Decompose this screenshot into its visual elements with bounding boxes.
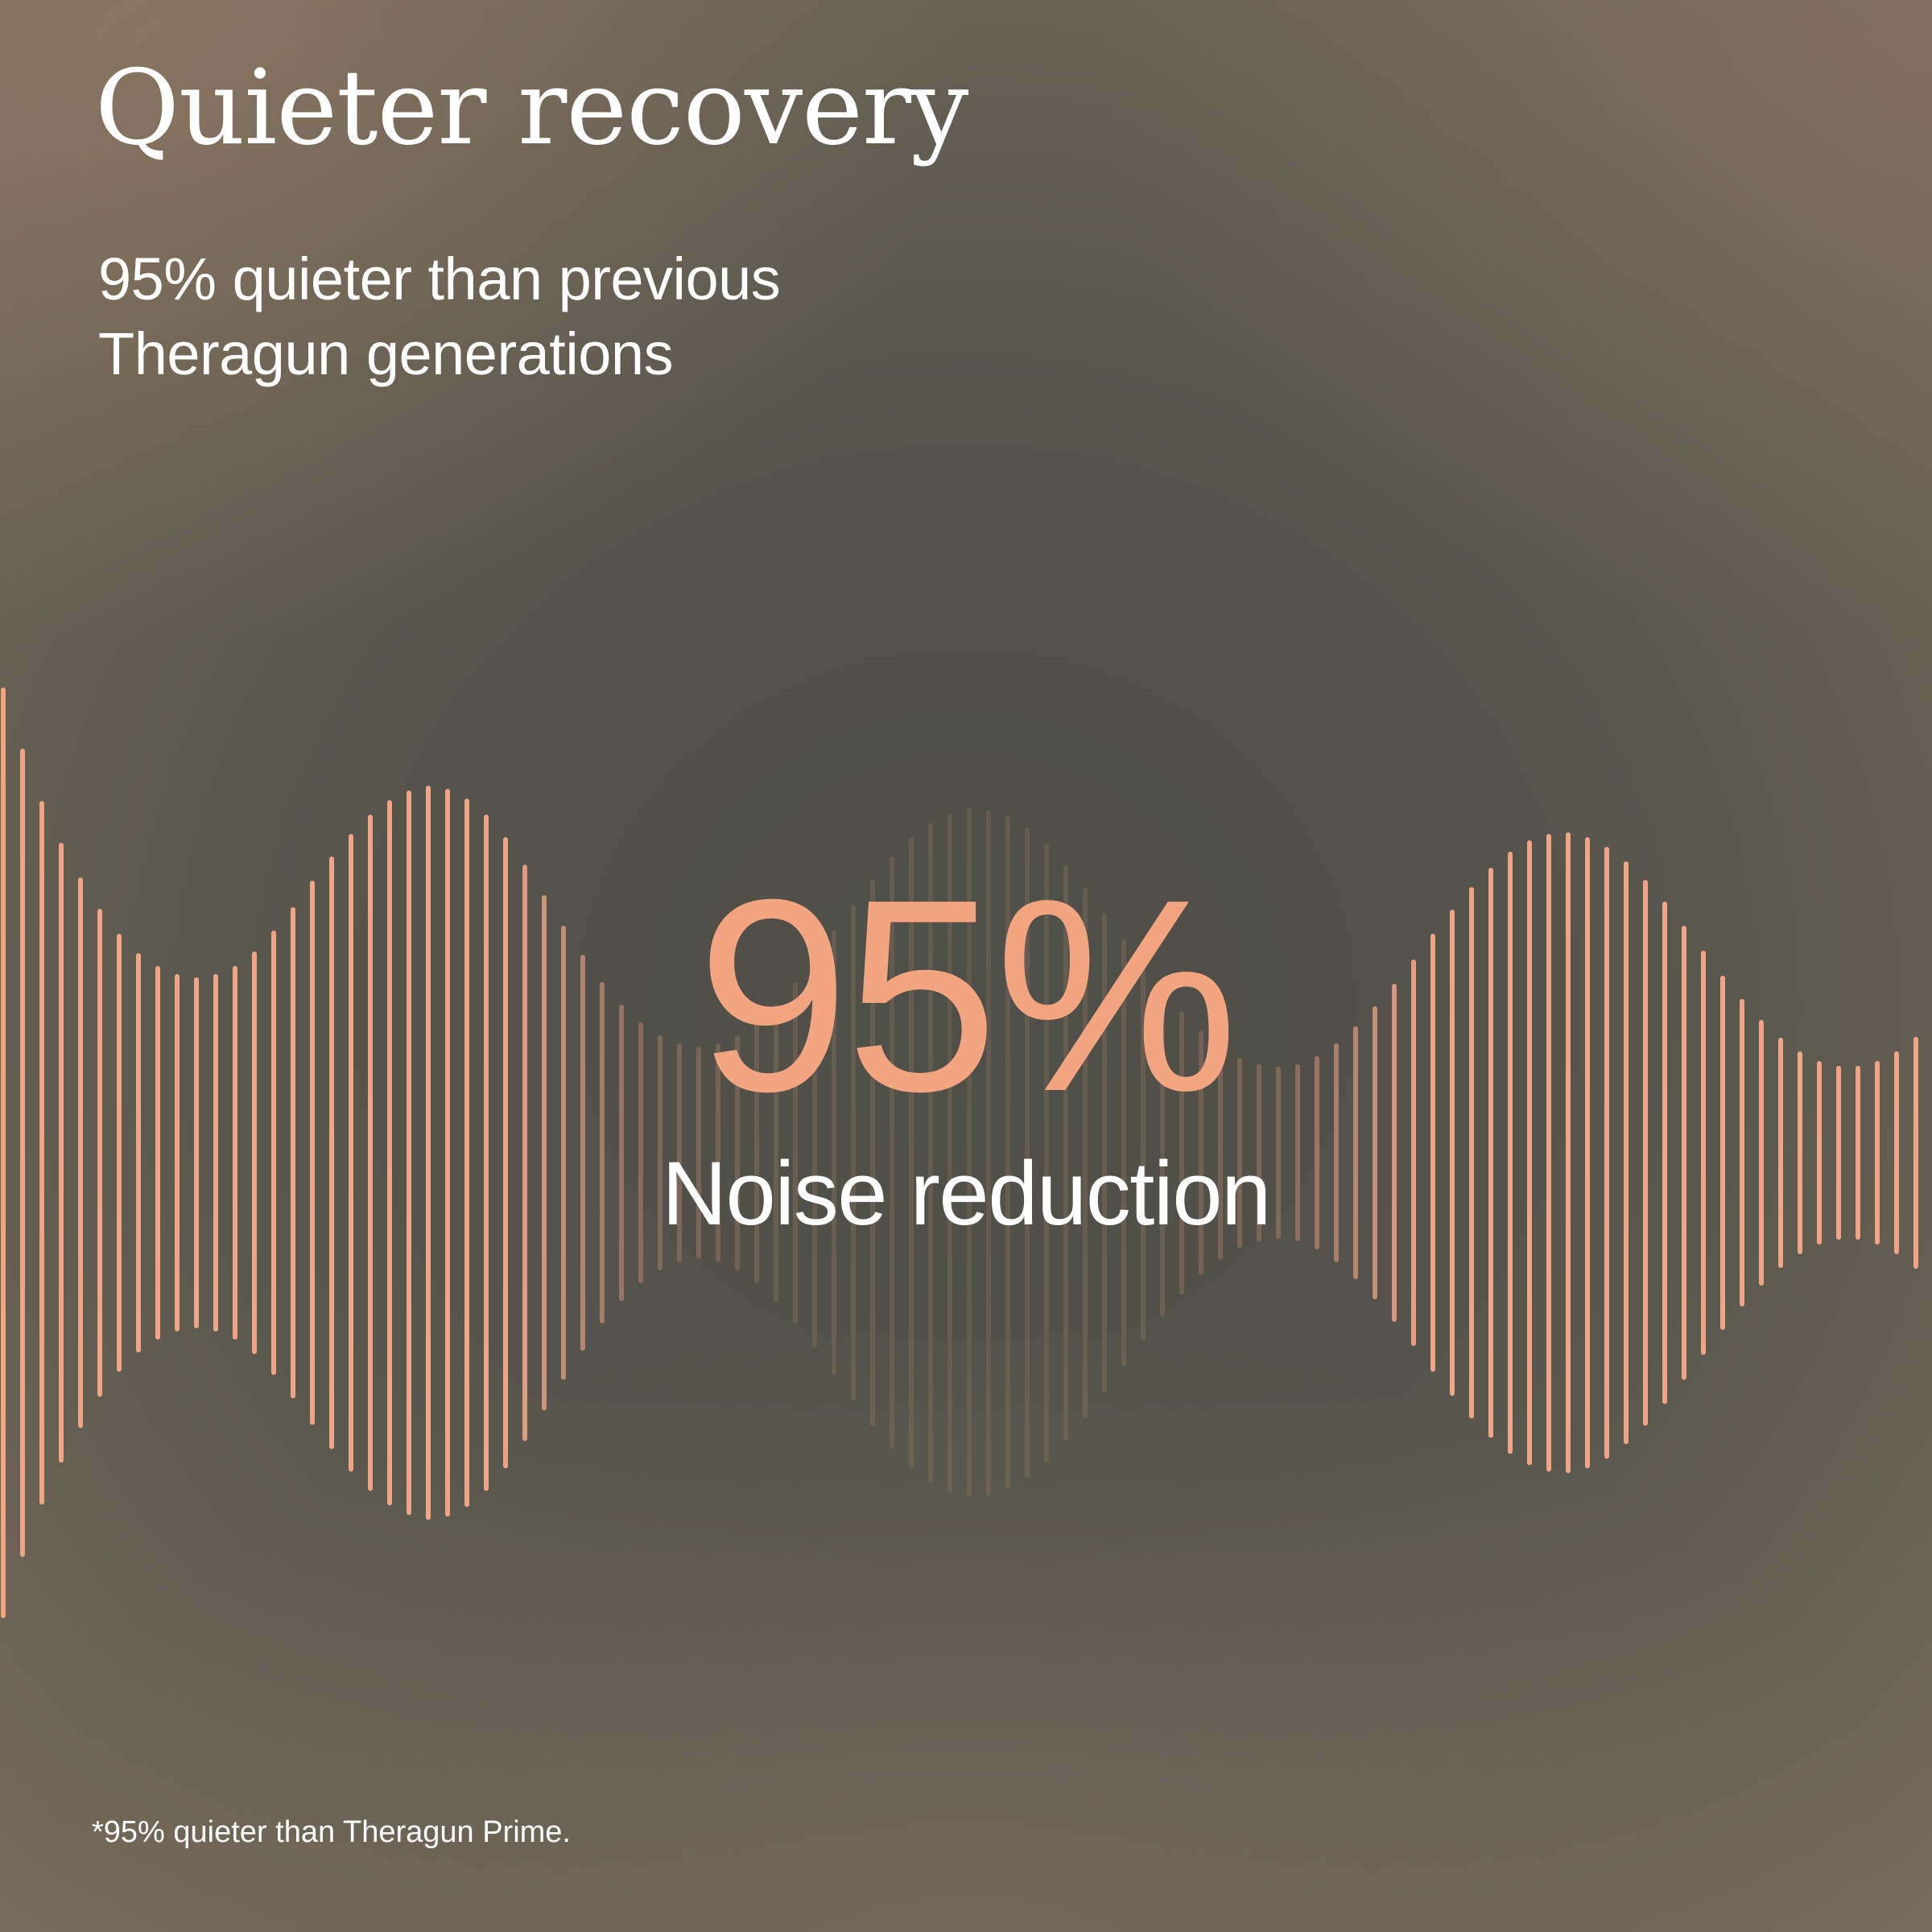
- waveform-bar: [310, 881, 315, 1425]
- waveform-bar: [1199, 1030, 1203, 1275]
- waveform-bar: [909, 837, 914, 1468]
- waveform-bar: [542, 895, 547, 1410]
- waveform-bar: [986, 810, 991, 1496]
- waveform-bar: [1160, 989, 1165, 1317]
- waveform-bar: [1682, 926, 1686, 1380]
- waveform-bar: [1411, 960, 1416, 1346]
- waveform-bar: [1643, 880, 1648, 1426]
- waveform-bar: [890, 857, 894, 1449]
- waveform-bar: [1334, 1043, 1339, 1262]
- waveform-bar: [1508, 852, 1513, 1454]
- waveform-bar: [1, 687, 6, 1618]
- waveform-bar: [1798, 1051, 1802, 1254]
- waveform-bar: [117, 934, 122, 1372]
- waveform-bar: [20, 749, 25, 1557]
- waveform-bar: [1083, 887, 1088, 1418]
- waveform-bar: [1566, 832, 1571, 1473]
- waveform-bar: [1179, 1011, 1184, 1294]
- waveform-bar: [1315, 1056, 1319, 1249]
- waveform-bar: [291, 907, 295, 1398]
- waveform-bar: [812, 958, 817, 1348]
- waveform-bar: [1102, 913, 1107, 1393]
- waveform-bar: [522, 865, 527, 1441]
- waveform-bar: [1392, 984, 1397, 1322]
- waveform-bar: [774, 1004, 778, 1302]
- waveform-bar: [928, 823, 933, 1483]
- waveform-bar: [716, 1043, 720, 1262]
- waveform-bar: [1373, 1006, 1377, 1299]
- poster-canvas: Quieter recovery 95% quieter than previo…: [0, 0, 1932, 1932]
- waveform-bar: [1624, 861, 1629, 1444]
- waveform-bar: [194, 977, 199, 1328]
- waveform-bar: [271, 931, 276, 1375]
- waveform-bar: [78, 877, 83, 1428]
- waveform-bar: [600, 982, 605, 1323]
- waveform-bar: [1450, 910, 1455, 1396]
- waveform-bar: [754, 1022, 759, 1283]
- waveform-bar: [1740, 999, 1744, 1307]
- waveform-bar: [1701, 951, 1706, 1355]
- waveform-bar: [696, 1046, 701, 1259]
- waveform-bar: [1469, 887, 1474, 1418]
- waveform-bar: [1836, 1066, 1841, 1240]
- waveform-bar: [1121, 939, 1126, 1367]
- waveform-bar: [1044, 844, 1049, 1462]
- waveform-bar: [503, 837, 508, 1468]
- waveform-bar: [638, 1022, 643, 1283]
- waveform-bar: [870, 879, 875, 1426]
- waveform-bar: [59, 843, 64, 1463]
- waveform-bar: [580, 955, 585, 1351]
- waveform-bar: [947, 813, 952, 1492]
- waveform-bar: [561, 926, 566, 1380]
- waveform-bar: [658, 1035, 663, 1270]
- waveform-bar: [1875, 1061, 1880, 1245]
- waveform-bar: [445, 789, 450, 1517]
- waveform-bar: [1662, 902, 1667, 1404]
- waveform-bar: [387, 800, 392, 1505]
- waveform-bar: [1585, 837, 1590, 1468]
- waveform-bar: [1005, 816, 1010, 1489]
- waveform-bar: [793, 982, 798, 1323]
- waveform-bar: [1546, 834, 1551, 1472]
- waveform-bar: [677, 1043, 682, 1262]
- waveform-bar: [175, 974, 180, 1331]
- waveform-bar: [1257, 1064, 1261, 1241]
- waveform-bar: [1759, 1020, 1764, 1286]
- waveform-bar: [407, 791, 411, 1515]
- waveform-bar: [832, 931, 836, 1375]
- waveform-bar: [136, 953, 141, 1352]
- waveform-bar: [97, 909, 102, 1397]
- waveform-bar: [233, 966, 237, 1340]
- waveform-bar: [1353, 1026, 1358, 1279]
- waveform-bar: [349, 834, 353, 1472]
- waveform-bar: [1604, 847, 1609, 1459]
- waveform-bar: [1488, 868, 1493, 1438]
- waveform-bar: [1430, 934, 1435, 1372]
- waveform-bar: [39, 801, 44, 1505]
- waveform-bar: [735, 1035, 740, 1270]
- waveform-bar: [1720, 976, 1725, 1330]
- page-headline: Quieter recovery: [95, 56, 968, 162]
- waveform-bar: [1527, 840, 1532, 1465]
- waveform-bar: [155, 966, 160, 1340]
- waveform-bar: [368, 815, 373, 1491]
- waveform-bar: [426, 786, 431, 1520]
- waveform-bar: [484, 815, 489, 1491]
- waveform-bar: [1778, 1038, 1783, 1268]
- waveform-bar: [1237, 1058, 1242, 1248]
- waveform-bar: [1276, 1067, 1281, 1239]
- waveform-bar: [1913, 1037, 1918, 1269]
- waveform-bar: [464, 799, 469, 1507]
- waveform-bar: [1894, 1051, 1899, 1254]
- waveform-bar: [1063, 865, 1068, 1441]
- footnote-disclaimer: *95% quieter than Theragun Prime.: [92, 1814, 571, 1851]
- waveform-bar: [1295, 1064, 1300, 1241]
- waveform-bar: [619, 1005, 624, 1301]
- waveform-bar: [1856, 1066, 1860, 1240]
- waveform-bar: [967, 808, 972, 1497]
- waveform-bar: [329, 857, 334, 1449]
- waveform-bar: [1817, 1061, 1822, 1245]
- waveform-bar: [1025, 828, 1030, 1478]
- waveform-bar: [213, 974, 218, 1331]
- waveform-bar: [1141, 964, 1146, 1341]
- waveform-bar: [252, 952, 257, 1354]
- waveform-bar: [1218, 1046, 1223, 1260]
- page-subheadline: 95% quieter than previous Theragun gener…: [98, 242, 780, 391]
- waveform-bar: [851, 905, 856, 1401]
